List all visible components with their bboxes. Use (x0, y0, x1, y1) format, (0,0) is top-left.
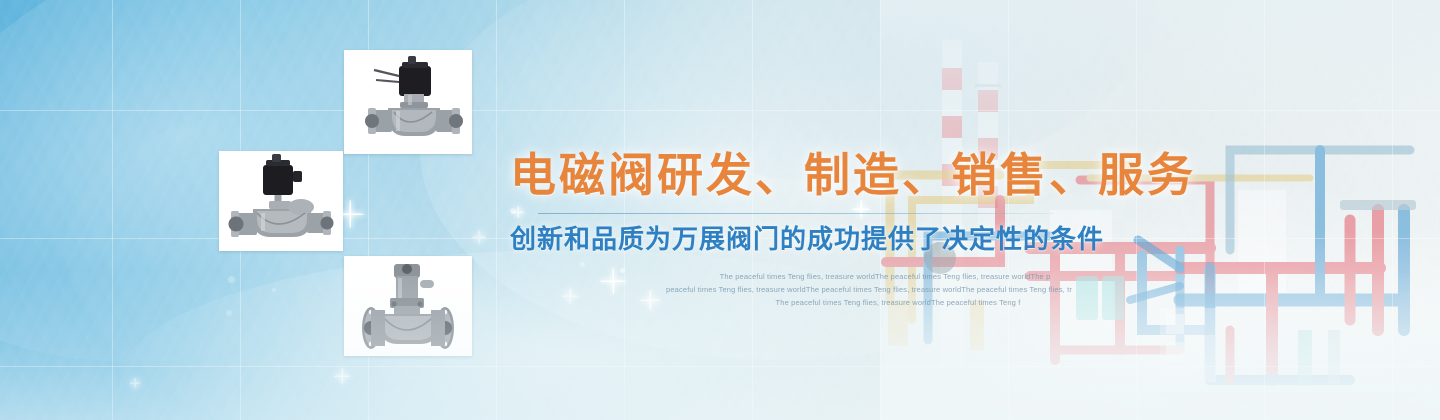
bokeh-dot-3 (272, 288, 276, 292)
sparkle-7 (472, 230, 486, 244)
hero-banner: 电磁阀研发、制造、销售、服务 创新和品质为万展阀门的成功提供了决定性的条件 Th… (0, 0, 1440, 420)
blurb-line-1: The peaceful times Teng flies, treasure … (650, 270, 1120, 283)
blurb-line-3: The peaceful times Teng flies, treasure … (676, 296, 1120, 309)
product-card-solenoid-valve-2[interactable] (219, 151, 343, 251)
banner-subheadline: 创新和品质为万展阀门的成功提供了决定性的条件 (510, 223, 1110, 256)
headline-divider (538, 213, 1054, 214)
banner-blurb: The peaceful times Teng flies, treasure … (650, 270, 1120, 309)
banner-headline: 电磁阀研发、制造、销售、服务 (510, 148, 1110, 202)
bokeh-dot-4 (226, 310, 232, 316)
sparkle-9 (130, 378, 140, 388)
banner-text-block: 电磁阀研发、制造、销售、服务 创新和品质为万展阀门的成功提供了决定性的条件 Th… (510, 148, 1110, 309)
product-card-solenoid-valve-3[interactable] (344, 256, 472, 356)
sparkle-8 (334, 368, 350, 384)
product-card-solenoid-valve-1[interactable] (344, 50, 472, 154)
blurb-line-2: peaceful times Teng flies, treasure worl… (618, 283, 1120, 296)
bokeh-dot-2 (228, 276, 235, 283)
